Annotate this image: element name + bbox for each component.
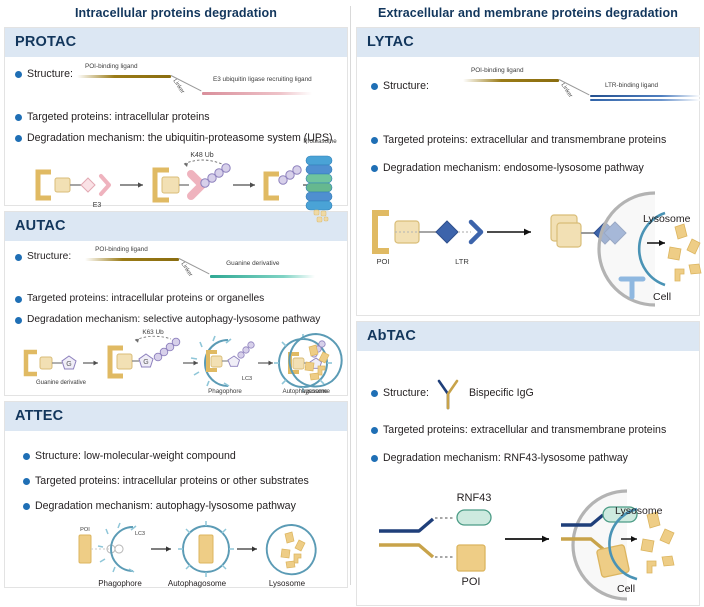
card-attec-body: Structure: low-molecular-weight compound… — [5, 431, 347, 587]
bullet-dot-icon — [371, 137, 378, 144]
proteasome-label: Proteasome — [296, 138, 344, 145]
bullet-dot-icon — [15, 296, 22, 303]
protac-mechanism-row: Degradation mechanism: the ubiquitin-pro… — [13, 131, 339, 147]
bullet-dot-icon — [15, 114, 22, 121]
bullet-dot-icon — [23, 478, 30, 485]
attec-targets-row: Targeted proteins: intracellular protein… — [21, 474, 339, 490]
card-abtac-header: AbTAC — [357, 322, 699, 351]
card-abtac-title: AbTAC — [367, 328, 416, 344]
bullet-dot-icon — [371, 427, 378, 434]
bullet-dot-icon — [15, 135, 22, 142]
bullet-dot-icon — [23, 503, 30, 510]
abtac-lysosome-label: Lysosome — [615, 505, 662, 517]
abtac-mechanism-text: Degradation mechanism: RNF43-lysosome pa… — [383, 451, 628, 465]
svg-text:E3: E3 — [93, 202, 102, 209]
abtac-diagram: RNF43 POI — [365, 487, 691, 607]
bullet-dot-icon — [23, 453, 30, 460]
autac-right-ligand-label: Guanine derivative — [226, 260, 279, 267]
protac-left-ligand-label: POI-binding ligand — [85, 63, 138, 70]
svg-text:K63 Ub: K63 Ub — [142, 329, 164, 336]
autac-structure-row: Structure: POI-binding ligand Linker Gua… — [13, 250, 339, 284]
card-abtac: AbTAC Structure: Bispecific IgG — [356, 321, 700, 606]
autac-diagram: G Guanine derivative G — [13, 332, 339, 410]
abtac-targets-text: Targeted proteins: extracellular and tra… — [383, 423, 666, 437]
autac-phagophore-label: Phagophore — [197, 388, 253, 395]
svg-text:POI: POI — [80, 527, 90, 533]
protein-degradation-figure: Intracellular proteins degradation PROTA… — [0, 0, 704, 591]
attec-autophagosome-label: Autophagosome — [153, 579, 241, 588]
lytac-structure-schematic: POI-binding ligand Linker LTR-binding li… — [429, 79, 691, 113]
lytac-structure-row: Structure: POI-binding ligand Linker LTR… — [369, 79, 691, 113]
lytac-targets-text: Targeted proteins: extracellular and tra… — [383, 133, 666, 147]
abtac-mechanism-row: Degradation mechanism: RNF43-lysosome pa… — [369, 451, 691, 467]
protac-structure-schematic: POI-binding ligand Linker E3 ubiquitin l… — [73, 67, 339, 101]
autac-left-ligand-label: POI-binding ligand — [95, 246, 148, 253]
card-attec-title: ATTEC — [15, 408, 63, 424]
autac-left-ligand-line — [85, 258, 179, 261]
autac-mechanism-row: Degradation mechanism: selective autopha… — [13, 313, 339, 329]
autac-mechanism-text: Degradation mechanism: selective autopha… — [27, 313, 320, 327]
svg-text:LC3: LC3 — [242, 376, 252, 382]
card-protac-header: PROTAC — [5, 28, 347, 57]
lytac-left-ligand-label: POI-binding ligand — [471, 67, 524, 74]
lytac-cell-label: Cell — [653, 291, 671, 303]
abtac-cell-label: Cell — [617, 583, 635, 595]
card-protac-body: Structure: POI-binding ligand Linker E3 … — [5, 57, 347, 205]
proteasome-icon — [297, 148, 343, 224]
protac-diagram: E3 — [13, 150, 339, 222]
protac-targets-text: Targeted proteins: intracellular protein… — [27, 110, 210, 124]
svg-text:LC3: LC3 — [135, 531, 145, 537]
autac-right-ligand-line — [210, 275, 315, 278]
attec-diagram: POI LC3 — [13, 521, 339, 583]
card-autac: AUTAC Structure: POI-binding ligand Link… — [4, 211, 348, 396]
abtac-structure-value: Bispecific IgG — [469, 386, 534, 400]
card-protac-title: PROTAC — [15, 34, 76, 50]
card-attec: ATTEC Structure: low-molecular-weight co… — [4, 401, 348, 588]
left-column: Intracellular proteins degradation PROTA… — [4, 0, 348, 591]
svg-text:POI: POI — [376, 257, 389, 266]
lytac-left-ligand-line — [463, 79, 559, 82]
autac-lysosome-label: Lysosome — [289, 388, 343, 395]
protac-structure-row: Structure: POI-binding ligand Linker E3 … — [13, 67, 339, 101]
svg-text:LTR: LTR — [455, 257, 469, 266]
lytac-structure-label: Structure: — [383, 79, 429, 93]
svg-text:G: G — [66, 361, 71, 368]
protac-structure-label: Structure: — [27, 67, 73, 81]
lytac-diagram: POI LTR — [365, 191, 691, 319]
lytac-right-ligand-line-top — [590, 95, 700, 97]
bullet-dot-icon — [371, 83, 378, 90]
autac-lysosome-icon — [285, 330, 347, 392]
svg-text:K48 Ub: K48 Ub — [190, 152, 213, 159]
column-divider — [350, 6, 351, 585]
attec-structure-row: Structure: low-molecular-weight compound — [21, 449, 339, 465]
autac-structure-label: Structure: — [27, 250, 71, 264]
attec-mechanism-row: Degradation mechanism: autophagy-lysosom… — [21, 499, 339, 515]
card-lytac-title: LYTAC — [367, 34, 414, 50]
protac-mechanism-text: Degradation mechanism: the ubiquitin-pro… — [27, 131, 333, 145]
lytac-targets-row: Targeted proteins: extracellular and tra… — [369, 133, 691, 149]
svg-text:POI: POI — [462, 576, 481, 588]
autac-targets-text: Targeted proteins: intracellular protein… — [27, 292, 264, 306]
card-protac: PROTAC Structure: POI-binding ligand Lin… — [4, 27, 348, 206]
attec-mechanism-text: Degradation mechanism: autophagy-lysosom… — [35, 499, 296, 513]
autac-targets-row: Targeted proteins: intracellular protein… — [13, 292, 339, 308]
svg-text:G: G — [143, 359, 148, 366]
lytac-mechanism-text: Degradation mechanism: endosome-lysosome… — [383, 161, 644, 175]
attec-targets-text: Targeted proteins: intracellular protein… — [35, 474, 309, 488]
card-lytac: LYTAC Structure: POI-binding ligand Link… — [356, 27, 700, 316]
protac-right-ligand-label: E3 ubiquitin ligase recruiting ligand — [213, 76, 312, 83]
bullet-dot-icon — [371, 455, 378, 462]
abtac-structure-label: Structure: — [383, 386, 429, 400]
igg-antibody-icon — [433, 377, 463, 409]
protac-targets-row: Targeted proteins: intracellular protein… — [13, 110, 339, 126]
right-column: Extracellular and membrane proteins degr… — [356, 0, 700, 591]
autac-structure-schematic: POI-binding ligand Linker Guanine deriva… — [71, 250, 339, 284]
bullet-dot-icon — [371, 165, 378, 172]
card-lytac-header: LYTAC — [357, 28, 699, 57]
protac-left-ligand-line — [77, 75, 171, 78]
card-autac-body: Structure: POI-binding ligand Linker Gua… — [5, 241, 347, 395]
card-abtac-body: Structure: Bispecific IgG Targeted prote… — [357, 351, 699, 605]
card-lytac-body: Structure: POI-binding ligand Linker LTR… — [357, 57, 699, 315]
left-column-title: Intracellular proteins degradation — [4, 0, 348, 27]
right-column-title: Extracellular and membrane proteins degr… — [356, 0, 700, 27]
abtac-targets-row: Targeted proteins: extracellular and tra… — [369, 423, 691, 439]
lytac-lysosome-label: Lysosome — [643, 213, 690, 225]
attec-structure-text: Structure: low-molecular-weight compound — [35, 449, 236, 463]
attec-lysosome-label: Lysosome — [251, 579, 323, 588]
lytac-right-ligand-label: LTR-binding ligand — [605, 82, 658, 89]
bullet-dot-icon — [15, 254, 22, 261]
abtac-structure-row: Structure: Bispecific IgG — [369, 377, 691, 409]
attec-phagophore-label: Phagophore — [85, 579, 155, 588]
bullet-dot-icon — [15, 317, 22, 324]
svg-text:Guanine derivative: Guanine derivative — [36, 380, 87, 386]
lytac-mechanism-row: Degradation mechanism: endosome-lysosome… — [369, 161, 691, 177]
bullet-dot-icon — [15, 71, 22, 78]
protac-right-ligand-line — [202, 92, 312, 95]
bullet-dot-icon — [371, 390, 378, 397]
svg-text:RNF43: RNF43 — [457, 492, 492, 504]
lytac-right-ligand-line-bottom — [590, 99, 700, 101]
